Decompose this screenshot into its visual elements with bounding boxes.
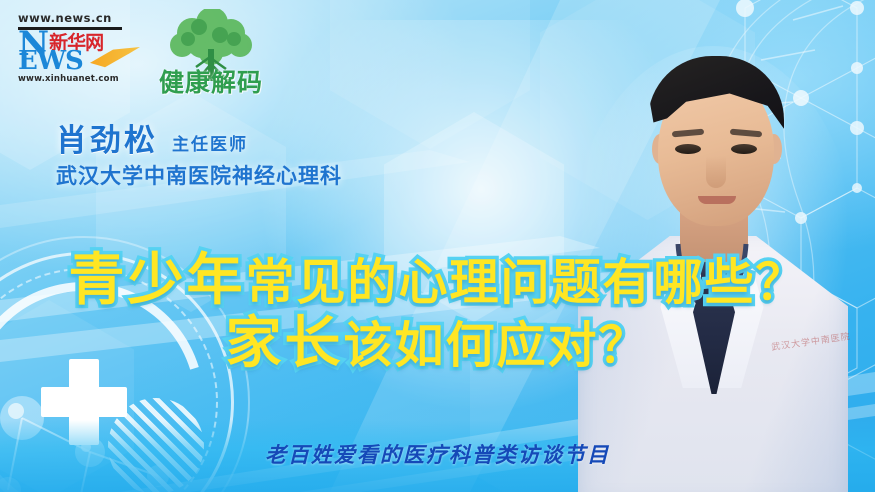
headline-line-2-lead: 家长 bbox=[225, 311, 343, 376]
guest-name: 肖劲松 bbox=[56, 126, 158, 157]
molecule-icon bbox=[0, 366, 212, 492]
headline-line-1: 青少年常见的心理问题有哪些？ bbox=[0, 252, 875, 309]
headline-line-2-rest: 该如何应对？ bbox=[343, 317, 649, 374]
headline-line-1-rest: 常见的心理问题有哪些？ bbox=[245, 254, 806, 311]
xinhua-url-top: www.news.cn bbox=[18, 13, 122, 25]
program-tagline: 老百姓爱看的医疗科普类访谈节目 bbox=[0, 445, 875, 466]
program-logo[interactable]: 健康解码 bbox=[152, 9, 270, 99]
headline: 青少年常见的心理问题有哪些？ 家长该如何应对？ bbox=[0, 252, 875, 372]
logo-bar: www.news.cn N 新华网 EWS www.xinhuanet.com bbox=[18, 8, 270, 100]
guest-title: 主任医师 bbox=[172, 137, 248, 157]
headline-line-1-lead: 青少年 bbox=[68, 248, 245, 313]
xinhua-url-bottom: www.xinhuanet.com bbox=[18, 75, 122, 84]
guest-department: 武汉大学中南医院神经心理科 bbox=[56, 166, 342, 187]
guest-info: 肖劲松 主任医师 武汉大学中南医院神经心理科 bbox=[56, 126, 342, 187]
program-name: 健康解码 bbox=[152, 70, 270, 95]
program-title-card: 武汉大学中南医院 www.news.cn N 新华网 EWS www.xinhu… bbox=[0, 0, 875, 492]
xinhuanet-logo[interactable]: www.news.cn N 新华网 EWS www.xinhuanet.com bbox=[18, 13, 122, 95]
headline-line-2: 家长该如何应对？ bbox=[0, 315, 875, 372]
